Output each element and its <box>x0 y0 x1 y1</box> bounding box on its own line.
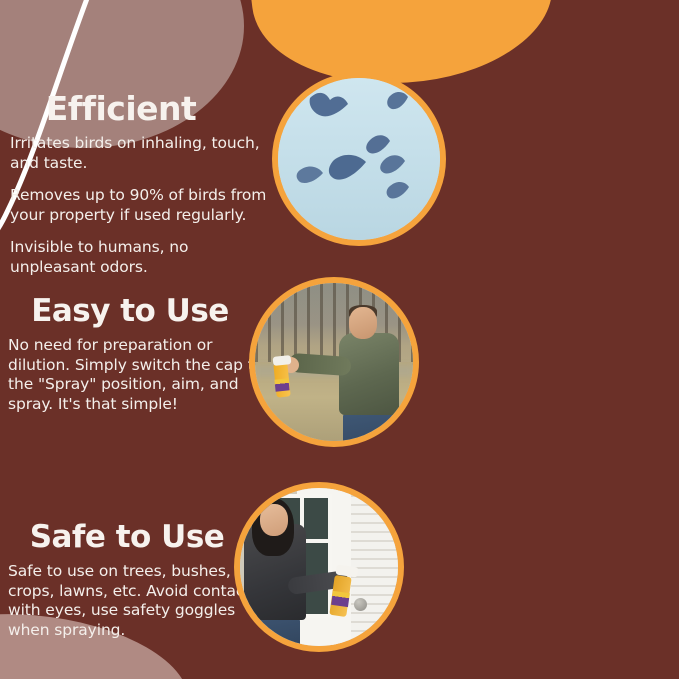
feature-heading-easy-to-use: Easy to Use <box>8 296 266 327</box>
outdoor-scene <box>255 283 413 441</box>
feature-heading-safe-to-use: Safe to Use <box>8 522 258 553</box>
olive-hoodie <box>339 333 399 415</box>
trigger-cap <box>273 355 292 366</box>
infographic-canvas: FLOCK FREE BIRD REPELLENT SPRAY READY TO… <box>0 0 679 679</box>
feature-text: No need for preparation or dilution. Sim… <box>8 336 266 414</box>
head <box>349 307 377 339</box>
feature-block-safe-to-use: Safe to Use Safe to use on trees, bushes… <box>8 522 258 640</box>
feature-block-efficient: Efficient Irritates birds on inhaling, t… <box>10 92 272 277</box>
feature-image-man-spraying <box>249 277 419 447</box>
door-knob <box>354 598 367 611</box>
bottle-label <box>331 591 350 607</box>
head <box>260 504 288 536</box>
feature-image-woman-spraying <box>234 482 404 652</box>
feature-text: Removes up to 90% of birds from your pro… <box>10 186 272 225</box>
bottle-label <box>274 378 289 391</box>
feature-image-birds <box>272 72 446 246</box>
feature-text: Safe to use on trees, bushes, crops, law… <box>8 562 258 640</box>
flying-birds <box>278 78 440 240</box>
feature-heading-efficient: Efficient <box>10 92 272 125</box>
feature-text: Invisible to humans, no unpleasant odors… <box>10 238 272 277</box>
feature-text: Irritates birds on inhaling, touch, and … <box>10 134 272 173</box>
house-entry-scene <box>240 488 398 646</box>
feature-block-easy-to-use: Easy to Use No need for preparation or d… <box>8 296 266 414</box>
